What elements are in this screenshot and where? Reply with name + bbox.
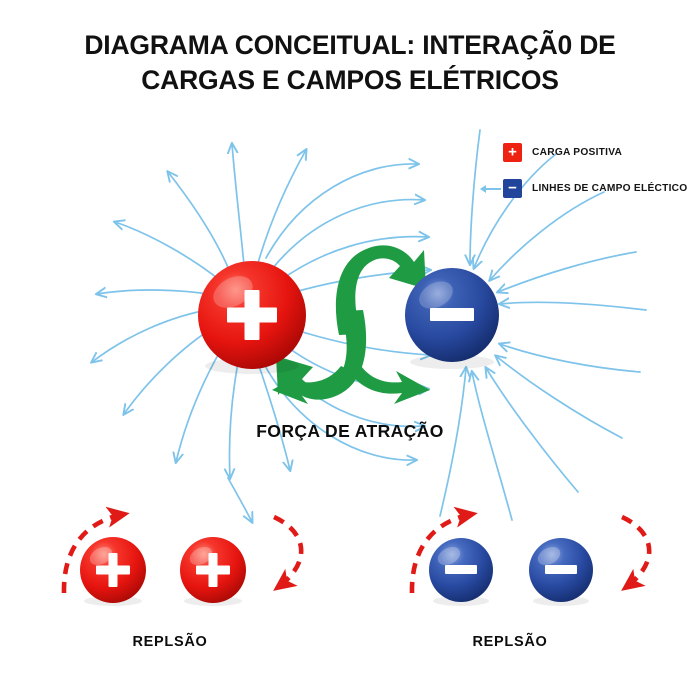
caption-attraction-force: FORÇA DE ATRAÇÃO (0, 421, 700, 442)
caption-repulsion-left: REPLSÃO (60, 634, 280, 650)
caption-repulsion-right: REPLSÃO (400, 634, 620, 650)
charge-sphere (180, 537, 246, 606)
plus-icon: + (508, 145, 517, 160)
repulsion-left-group (64, 514, 301, 606)
legend-label-field-lines: LINHES DE CAMPO ELÉCTICO (532, 183, 687, 194)
repulsion-right-group (412, 514, 649, 606)
legend-item-positive-charge: + CARGA POSITIVA (503, 141, 697, 163)
diagram-graphics (0, 0, 700, 700)
field-line-swatch: − (503, 179, 522, 198)
stray-field-line (228, 478, 252, 522)
positive-charge-swatch: + (503, 143, 522, 162)
legend: + CARGA POSITIVA − LINHES DE CAMPO ELÉCT… (503, 141, 697, 213)
charge-sphere (529, 538, 593, 606)
dipole-positive-charge (198, 261, 306, 374)
legend-label-positive-charge: CARGA POSITIVA (532, 147, 622, 158)
charge-sphere (429, 538, 493, 606)
legend-item-field-lines: − LINHES DE CAMPO ELÉCTICO (503, 177, 697, 199)
charge-sphere (80, 537, 146, 606)
field-line-arrow-icon (481, 188, 501, 190)
diagram-canvas: DIAGRAMA CONCEITUAL: INTERAÇÃ0 DE CARGAS… (0, 0, 700, 700)
minus-icon: − (508, 181, 517, 196)
